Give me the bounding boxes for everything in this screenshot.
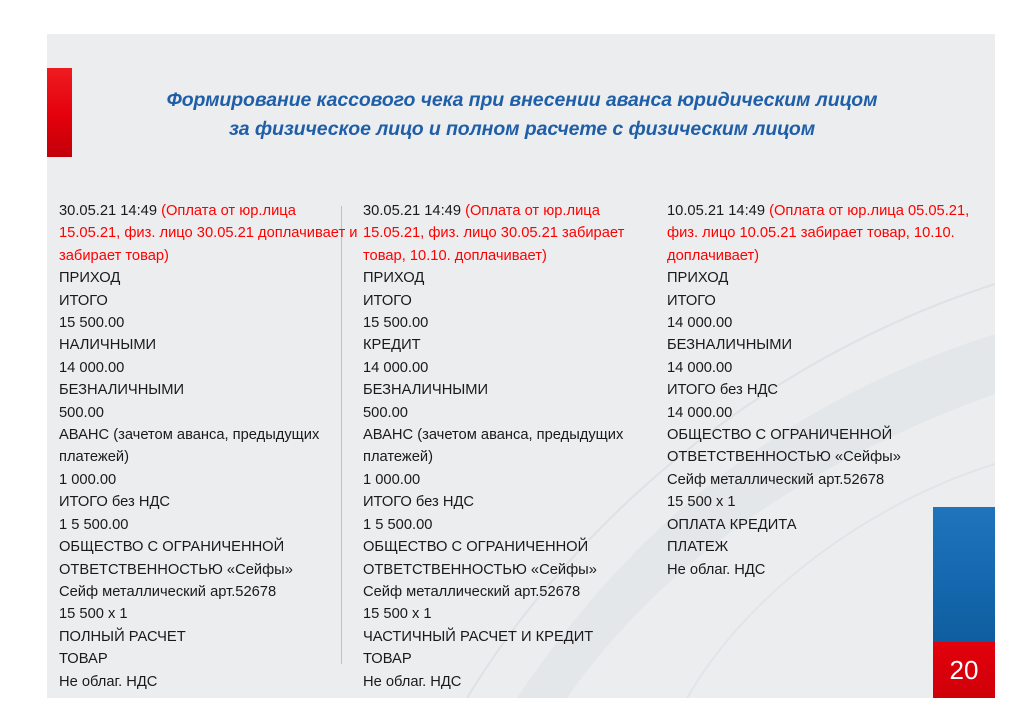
receipt-line: ОБЩЕСТВО С ОГРАНИЧЕННОЙ ОТВЕТСТВЕННОСТЬЮ… [363,536,663,581]
receipt-line: ИТОГО без НДС [363,491,663,513]
receipt-text: ПРИХОД [363,270,424,286]
receipt-text: ОБЩЕСТВО С ОГРАНИЧЕННОЙ ОТВЕТСТВЕННОСТЬЮ… [667,427,901,465]
page-badge-blue-bar [933,507,995,642]
receipt-line: 500.00 [363,402,663,424]
receipt-line: ЧАСТИЧНЫЙ РАСЧЕТ И КРЕДИТ [363,626,663,648]
receipt-line: 15 500.00 [363,312,663,334]
receipt-line: АВАНС (зачетом аванса, предыдущих платеж… [363,424,663,469]
receipt-text: ПОЛНЫЙ РАСЧЕТ [59,629,186,645]
slide-canvas: Формирование кассового чека при внесении… [47,34,995,698]
receipt-text: ИТОГО [667,293,716,309]
receipt-text: 14 000.00 [363,360,428,376]
receipt-text: 10.05.21 14:49 [667,203,769,219]
receipt-text: 14 000.00 [59,360,124,376]
receipt-line: БЕЗНАЛИЧНЫМИ [59,379,359,401]
receipt-line: 15 500 х 1 [363,603,663,625]
receipt-text: ПРИХОД [59,270,120,286]
receipt-text: 30.05.21 14:49 [363,203,465,219]
receipt-text: 30.05.21 14:49 [59,203,161,219]
receipt-text: 15 500 х 1 [667,494,736,510]
receipt-text: ОБЩЕСТВО С ОГРАНИЧЕННОЙ ОТВЕТСТВЕННОСТЬЮ… [363,539,597,577]
receipt-text: ОПЛАТА КРЕДИТА [667,517,797,533]
receipt-text: ИТОГО без НДС [667,382,778,398]
receipt-text: Не облаг. НДС [667,562,765,578]
receipt-line: ОБЩЕСТВО С ОГРАНИЧЕННОЙ ОТВЕТСТВЕННОСТЬЮ… [667,424,977,469]
receipt-text: ТОВАР [59,651,108,667]
receipt-line: ИТОГО без НДС [59,491,359,513]
receipt-text: 1 5 500.00 [59,517,128,533]
receipt-text: 1 5 500.00 [363,517,432,533]
receipt-line: Не облаг. НДС [667,559,977,581]
receipt-text: ИТОГО [59,293,108,309]
receipt-text: 14 000.00 [667,405,732,421]
receipt-text: 500.00 [363,405,408,421]
receipt-line: ПЛАТЕЖ [667,536,977,558]
receipt-line: КРЕДИТ [363,334,663,356]
receipt-line: 14 000.00 [667,357,977,379]
receipt-line: Сейф металлический арт.52678 [59,581,359,603]
receipt-line: 10.05.21 14:49 (Оплата от юр.лица 05.05.… [667,200,977,267]
receipt-text: БЕЗНАЛИЧНЫМИ [59,382,184,398]
receipt-text: 1 000.00 [363,472,420,488]
receipt-line: Сейф металлический арт.52678 [667,469,977,491]
receipt-text: ПРИХОД [667,270,728,286]
page-number-text: 20 [933,642,995,698]
receipt-line: 30.05.21 14:49 (Оплата от юр.лица 15.05.… [59,200,359,267]
receipt-text: БЕЗНАЛИЧНЫМИ [363,382,488,398]
receipt-line: 14 000.00 [59,357,359,379]
receipt-line: ИТОГО [363,290,663,312]
receipt-text: 500.00 [59,405,104,421]
receipt-line: Не облаг. НДС [363,671,663,693]
receipt-text: 15 500.00 [363,315,428,331]
receipt-columns: 30.05.21 14:49 (Оплата от юр.лица 15.05.… [47,200,995,680]
receipt-line: Сейф металлический арт.52678 [363,581,663,603]
receipt-line: ОПЛАТА КРЕДИТА [667,514,977,536]
receipt-line: 15 500.00 [59,312,359,334]
receipt-line: 500.00 [59,402,359,424]
receipt-text: ТОВАР [363,651,412,667]
receipt-line: 1 000.00 [59,469,359,491]
receipt-line: Не облаг. НДС [59,671,359,693]
receipt-line: 1 5 500.00 [59,514,359,536]
receipt-line: 30.05.21 14:49 (Оплата от юр.лица 15.05.… [363,200,663,267]
page-title: Формирование кассового чека при внесении… [102,86,942,144]
receipt-line: 14 000.00 [667,312,977,334]
receipt-text: Сейф металлический арт.52678 [363,584,580,600]
receipt-line: АВАНС (зачетом аванса, предыдущих платеж… [59,424,359,469]
title-accent-bar [47,68,72,157]
receipt-text: БЕЗНАЛИЧНЫМИ [667,337,792,353]
receipt-line: ПРИХОД [363,267,663,289]
receipt-line: ПОЛНЫЙ РАСЧЕТ [59,626,359,648]
receipt-line: 15 500 х 1 [667,491,977,513]
page-title-line-1: Формирование кассового чека при внесении… [102,86,942,115]
receipt-line: 1 000.00 [363,469,663,491]
receipt-line: БЕЗНАЛИЧНЫМИ [667,334,977,356]
receipt-text: Не облаг. НДС [363,674,461,690]
receipt-line: 15 500 х 1 [59,603,359,625]
receipt-text: 1 000.00 [59,472,116,488]
receipt-text: КРЕДИТ [363,337,421,353]
receipt-line: ПРИХОД [667,267,977,289]
receipt-line: ТОВАР [59,648,359,670]
receipt-text: ЧАСТИЧНЫЙ РАСЧЕТ И КРЕДИТ [363,629,593,645]
receipt-line: БЕЗНАЛИЧНЫМИ [363,379,663,401]
receipt-line: ИТОГО [667,290,977,312]
receipt-line: ОБЩЕСТВО С ОГРАНИЧЕННОЙ ОТВЕТСТВЕННОСТЬЮ… [59,536,359,581]
receipt-line: ИТОГО [59,290,359,312]
receipt-column-2: 30.05.21 14:49 (Оплата от юр.лица 15.05.… [363,200,663,693]
receipt-text: ПЛАТЕЖ [667,539,728,555]
receipt-text: Сейф металлический арт.52678 [667,472,884,488]
page-number-badge: 20 [933,507,995,698]
receipt-line: 14 000.00 [363,357,663,379]
receipt-line: 14 000.00 [667,402,977,424]
receipt-text: ИТОГО без НДС [59,494,170,510]
receipt-line: ПРИХОД [59,267,359,289]
receipt-line: 1 5 500.00 [363,514,663,536]
receipt-text: НАЛИЧНЫМИ [59,337,156,353]
receipt-line: НАЛИЧНЫМИ [59,334,359,356]
receipt-text: ОБЩЕСТВО С ОГРАНИЧЕННОЙ ОТВЕТСТВЕННОСТЬЮ… [59,539,293,577]
receipt-column-1: 30.05.21 14:49 (Оплата от юр.лица 15.05.… [59,200,359,693]
receipt-text: 15 500 х 1 [59,606,128,622]
receipt-text: ИТОГО без НДС [363,494,474,510]
receipt-text: АВАНС (зачетом аванса, предыдущих платеж… [363,427,627,465]
receipt-text: 15 500.00 [59,315,124,331]
receipt-text: АВАНС (зачетом аванса, предыдущих платеж… [59,427,323,465]
page-title-line-2: за физическое лицо и полном расчете с фи… [102,115,942,144]
receipt-text: Сейф металлический арт.52678 [59,584,276,600]
receipt-text: 15 500 х 1 [363,606,432,622]
receipt-line: ИТОГО без НДС [667,379,977,401]
receipt-text: Не облаг. НДС [59,674,157,690]
receipt-line: ТОВАР [363,648,663,670]
receipt-column-3: 10.05.21 14:49 (Оплата от юр.лица 05.05.… [667,200,977,581]
receipt-text: 14 000.00 [667,315,732,331]
receipt-text: 14 000.00 [667,360,732,376]
receipt-text: ИТОГО [363,293,412,309]
